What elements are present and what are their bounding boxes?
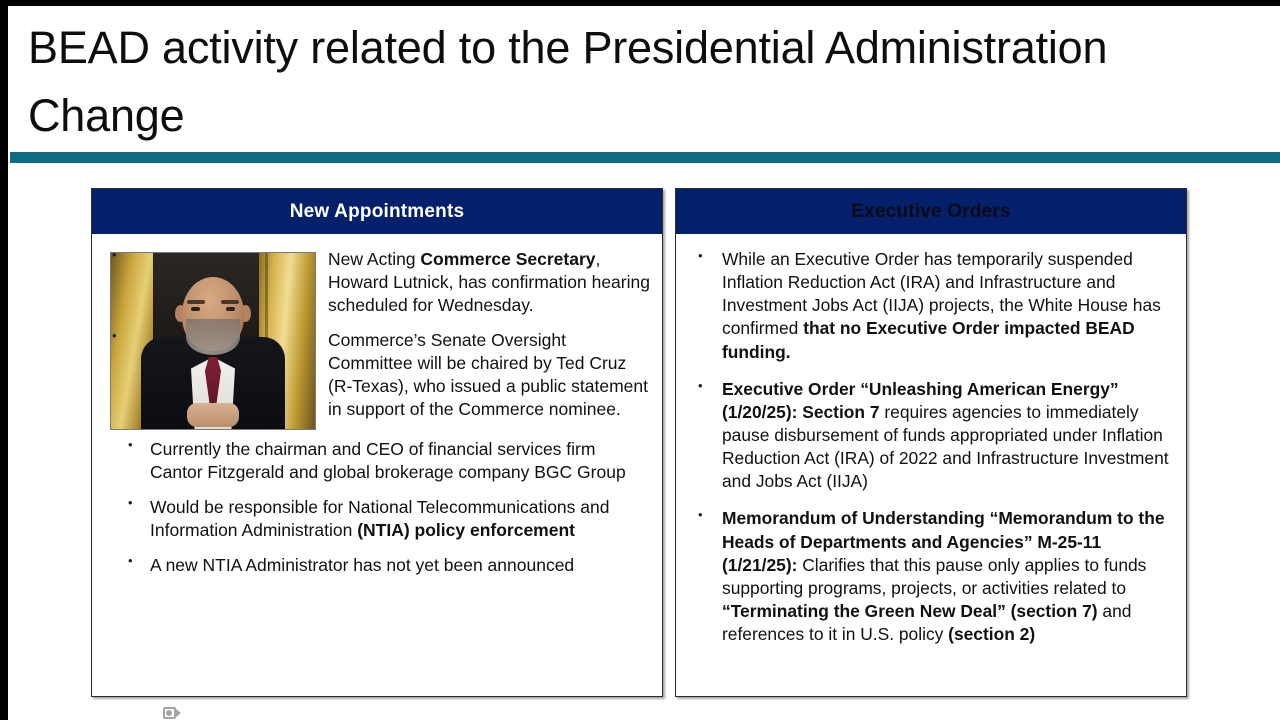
- list-item: A new NTIA Administrator has not yet bee…: [104, 554, 650, 577]
- panel-executive-orders: Executive Orders While an Executive Orde…: [675, 188, 1187, 697]
- panel-title-executive-orders: Executive Orders: [851, 201, 1011, 223]
- page-title: BEAD activity related to the Presidentia…: [28, 14, 1148, 151]
- list-item: Memorandum of Understanding “Memorandum …: [688, 507, 1174, 646]
- appointments-bullets-beside-photo: New Acting Commerce Secretary, Howard Lu…: [104, 248, 650, 420]
- executive-orders-bullets: While an Executive Order has temporarily…: [688, 248, 1174, 646]
- video-camera-icon[interactable]: [163, 707, 181, 719]
- panel-header-new-appointments: New Appointments: [92, 189, 662, 234]
- panel-new-appointments: New Appointments New Acting Commerce Sec…: [91, 188, 663, 697]
- list-item: While an Executive Order has temporarily…: [688, 248, 1174, 364]
- panel-title-new-appointments: New Appointments: [290, 201, 465, 223]
- window-left-border: [0, 0, 8, 720]
- panel-header-executive-orders: Executive Orders: [676, 189, 1186, 234]
- list-item: Commerce’s Senate Oversight Committee wi…: [104, 329, 650, 420]
- window-top-border: [0, 0, 1280, 6]
- list-item: Currently the chairman and CEO of financ…: [104, 438, 650, 483]
- list-item: Executive Order “Unleashing American Ene…: [688, 378, 1174, 494]
- list-item: New Acting Commerce Secretary, Howard Lu…: [104, 248, 650, 316]
- appointments-bullets-full-width: Currently the chairman and CEO of financ…: [104, 434, 650, 577]
- panel-body-new-appointments: New Acting Commerce Secretary, Howard Lu…: [92, 234, 662, 696]
- title-divider-rule: [10, 152, 1280, 163]
- panel-body-executive-orders: While an Executive Order has temporarily…: [676, 234, 1186, 696]
- list-item: Would be responsible for National Teleco…: [104, 496, 650, 541]
- bottom-spacer: [8, 700, 1280, 720]
